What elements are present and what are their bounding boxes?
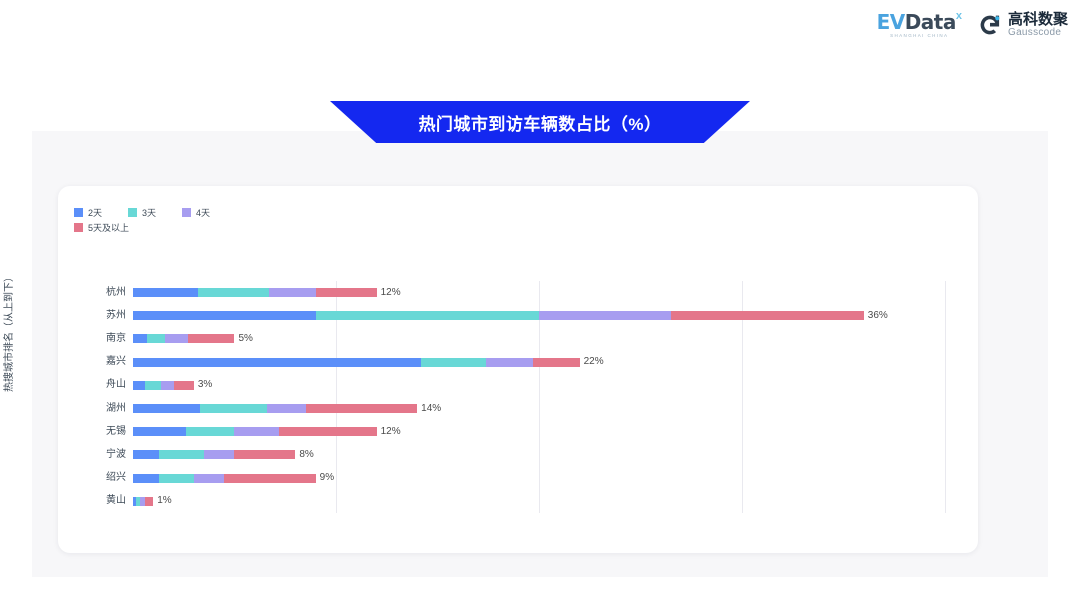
- legend-swatch-4d: [182, 208, 191, 217]
- legend-item-5d-plus[interactable]: 5天及以上: [74, 221, 129, 234]
- gausscode-logo-text: 高科数聚 Gausscode: [1008, 12, 1068, 38]
- evdata-logo-ev-text: EV: [877, 12, 905, 32]
- page-title: 热门城市到访车辆数占比（%）: [418, 110, 661, 135]
- chart-legend: 2天 3天 4天 5天及以上: [74, 206, 374, 236]
- chart-card: [58, 186, 978, 553]
- legend-label-3d: 3天: [142, 206, 156, 219]
- legend-swatch-5d-plus: [74, 223, 83, 232]
- evdata-logo-wordmark: EV Data x: [877, 12, 962, 32]
- evdata-logo-data-text: Data: [905, 12, 956, 32]
- evdata-logo: EV Data x shanghai china: [877, 12, 962, 39]
- legend-item-4d[interactable]: 4天: [182, 206, 210, 219]
- legend-item-3d[interactable]: 3天: [128, 206, 156, 219]
- legend-row-primary: 2天 3天 4天: [74, 206, 374, 218]
- legend-item-2d[interactable]: 2天: [74, 206, 102, 219]
- evdata-logo-tagline: shanghai china: [890, 34, 948, 39]
- chart-title-banner: 热门城市到访车辆数占比（%）: [330, 101, 750, 143]
- y-axis-title: 热搜城市排名（从上到下）: [0, 242, 15, 422]
- evdata-logo-x-icon: x: [956, 11, 962, 22]
- legend-label-2d: 2天: [88, 206, 102, 219]
- gausscode-logo-en-text: Gausscode: [1008, 28, 1068, 39]
- gausscode-logo-cn-text: 高科数聚: [1008, 12, 1068, 28]
- legend-swatch-3d: [128, 208, 137, 217]
- legend-label-4d: 4天: [196, 206, 210, 219]
- gausscode-logo: 高科数聚 Gausscode: [978, 12, 1068, 38]
- brand-header: EV Data x shanghai china 高科数聚 Gausscode: [0, 0, 1080, 56]
- legend-label-5d-plus: 5天及以上: [88, 221, 129, 234]
- gausscode-c-mark-icon: [978, 13, 1002, 37]
- logo-group: EV Data x shanghai china 高科数聚 Gausscode: [877, 12, 1068, 39]
- legend-swatch-2d: [74, 208, 83, 217]
- legend-row-secondary: 5天及以上: [74, 221, 374, 233]
